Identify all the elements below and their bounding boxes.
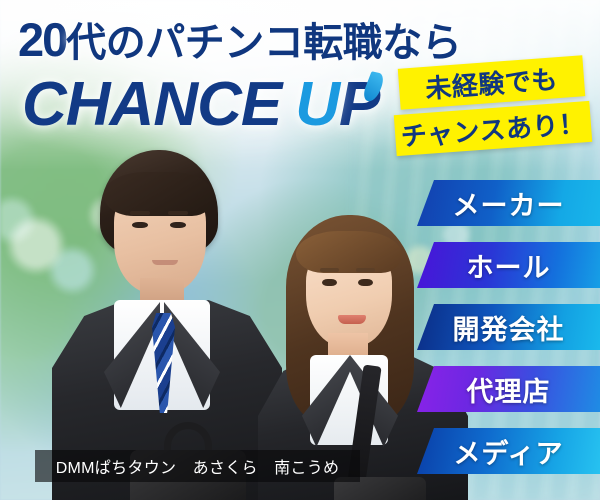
logo-letter-u: U [295,74,339,136]
credit-bar: DMMぱちタウン あさくら 南こうめ [35,450,360,482]
logo-word-chance: CHANCE [22,70,281,139]
headline-text: 20代のパチンコ転職なら [18,16,461,63]
chance-up-logo: CHANCEUP [22,74,379,136]
category-button-developer[interactable]: 開発会社 [417,304,600,350]
photo-businessman [52,150,282,500]
headline-rest: 代のパチンコ転職なら [66,21,461,65]
category-button-media[interactable]: メディア [417,428,600,474]
category-button-hall[interactable]: ホール [417,242,600,288]
banner-advertisement: 20代のパチンコ転職なら CHANCEUP 未経験でも チャンスあり！ メーカー… [0,0,600,500]
headline-number: 20 [18,13,66,66]
category-button-maker[interactable]: メーカー [417,180,600,226]
category-button-agency[interactable]: 代理店 [417,366,600,412]
